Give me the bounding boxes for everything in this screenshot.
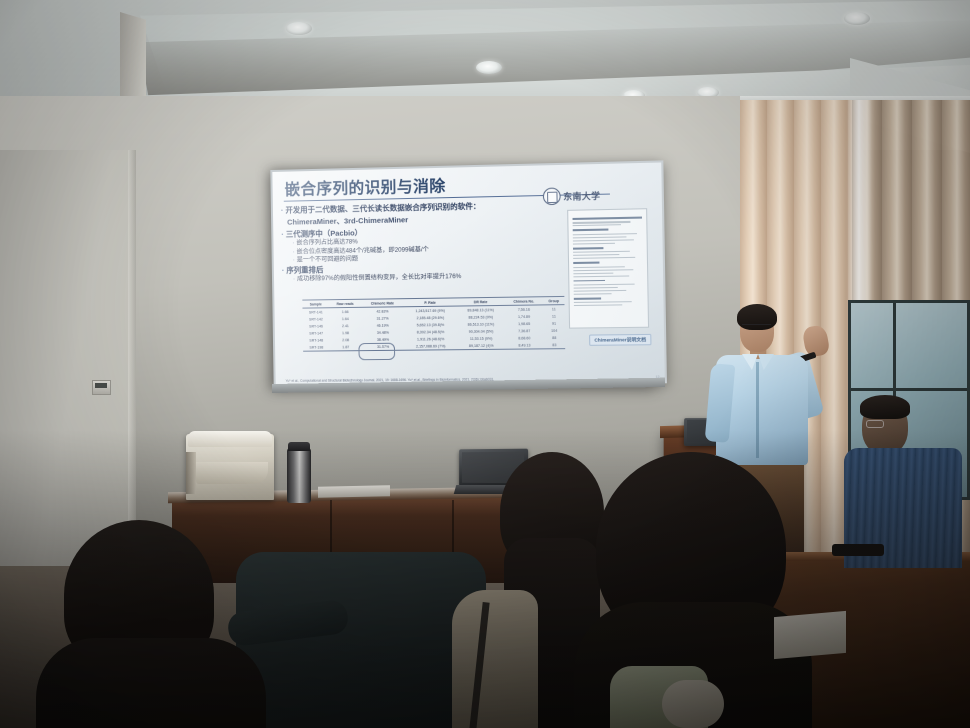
bullet-text: 序列重排后 xyxy=(286,265,323,275)
table-cell: 89,187.12 (4)% xyxy=(457,342,505,350)
documentation-screenshot xyxy=(567,208,649,328)
bullet-text: 是一个不可回避的问题 xyxy=(297,256,358,264)
university-seal-icon xyxy=(542,187,560,205)
bullet-marker-icon: · xyxy=(292,240,294,247)
presenter-glasses-icon xyxy=(742,324,771,331)
bullet-marker-icon: · xyxy=(282,265,285,274)
downlight-icon xyxy=(286,22,312,35)
table-cell: 1.87 xyxy=(330,343,362,351)
slide-content: 嵌合序列的识别与消除 东南大学 ·开发用于二代数据、三代长读长数据嵌合序列识别的… xyxy=(270,160,667,386)
printer-side xyxy=(186,452,196,494)
table-cell: 83 xyxy=(544,341,566,349)
downlight-icon xyxy=(476,61,502,74)
presenter-raised-hand xyxy=(802,324,831,358)
notepad-on-table xyxy=(774,611,846,659)
presenter-shirt-placket xyxy=(756,362,759,458)
table-cell: 2,157,088.69 (7%) xyxy=(404,342,457,350)
bullet-marker-icon: · xyxy=(293,276,295,283)
conference-room-photo: 嵌合序列的识别与消除 东南大学 ·开发用于二代数据、三代长读长数据嵌合序列识别的… xyxy=(0,0,970,728)
doc-link-button[interactable]: ChimeraMiner说明文档 xyxy=(589,334,651,346)
results-table: SampleRaw readsChimeric RateP. RateDR Ra… xyxy=(302,296,565,352)
window-mullion xyxy=(851,388,967,391)
attendee-back-left xyxy=(36,520,266,728)
slide-bullet-list: ·开发用于二代数据、三代长读长数据嵌合序列识别的软件： ChimeraMiner… xyxy=(281,201,501,283)
bullet-text: 嵌合序列占比高达78% xyxy=(296,239,357,247)
thermos-flask xyxy=(287,448,311,503)
university-logo: 东南大学 xyxy=(542,187,600,206)
attendee-hair xyxy=(860,395,910,419)
phone-on-table xyxy=(832,544,884,556)
printer-lid xyxy=(188,431,272,447)
seated-attendee-right xyxy=(840,398,970,568)
paper-stack xyxy=(318,485,390,498)
table-highlight-box xyxy=(358,343,395,360)
attendee-glasses-icon xyxy=(866,420,884,428)
university-name: 东南大学 xyxy=(563,189,600,202)
table-column-header: Group xyxy=(543,296,565,305)
attendee-shoulders xyxy=(36,638,266,728)
bullet-marker-icon: · xyxy=(281,206,284,215)
bullet-marker-icon: · xyxy=(281,230,284,239)
printer-paper-tray xyxy=(196,462,268,484)
left-wall xyxy=(0,150,132,570)
hair-tie xyxy=(662,680,724,728)
bullet-marker-icon: · xyxy=(293,257,295,264)
table-cell: 8,49.13 xyxy=(505,341,544,349)
thermostat-display-icon xyxy=(95,383,107,388)
bullet-text: 嵌合位点密度高达484个/兆碱基，即2099碱基/个 xyxy=(297,246,429,255)
attendee-foreground-right xyxy=(566,452,816,728)
table-cell: SRT-198 xyxy=(303,344,330,352)
table-row: SRT-1981.8731.57%2,157,088.69 (7%)89,187… xyxy=(303,341,565,351)
projection-screen: 嵌合序列的识别与消除 东南大学 ·开发用于二代数据、三代长读长数据嵌合序列识别的… xyxy=(270,160,667,386)
bullet-text: 三代测序中（Pacbio） xyxy=(286,228,363,239)
wall-corner-edge xyxy=(128,150,136,570)
bullet-marker-icon: · xyxy=(293,248,295,255)
bullet-text: 成功移除97%的假阳性倒置结构变异，全长比对率提升176% xyxy=(297,273,461,283)
downlight-icon xyxy=(844,12,870,25)
thermos-cap xyxy=(288,442,310,451)
attendee-beige-jacket xyxy=(452,590,538,728)
